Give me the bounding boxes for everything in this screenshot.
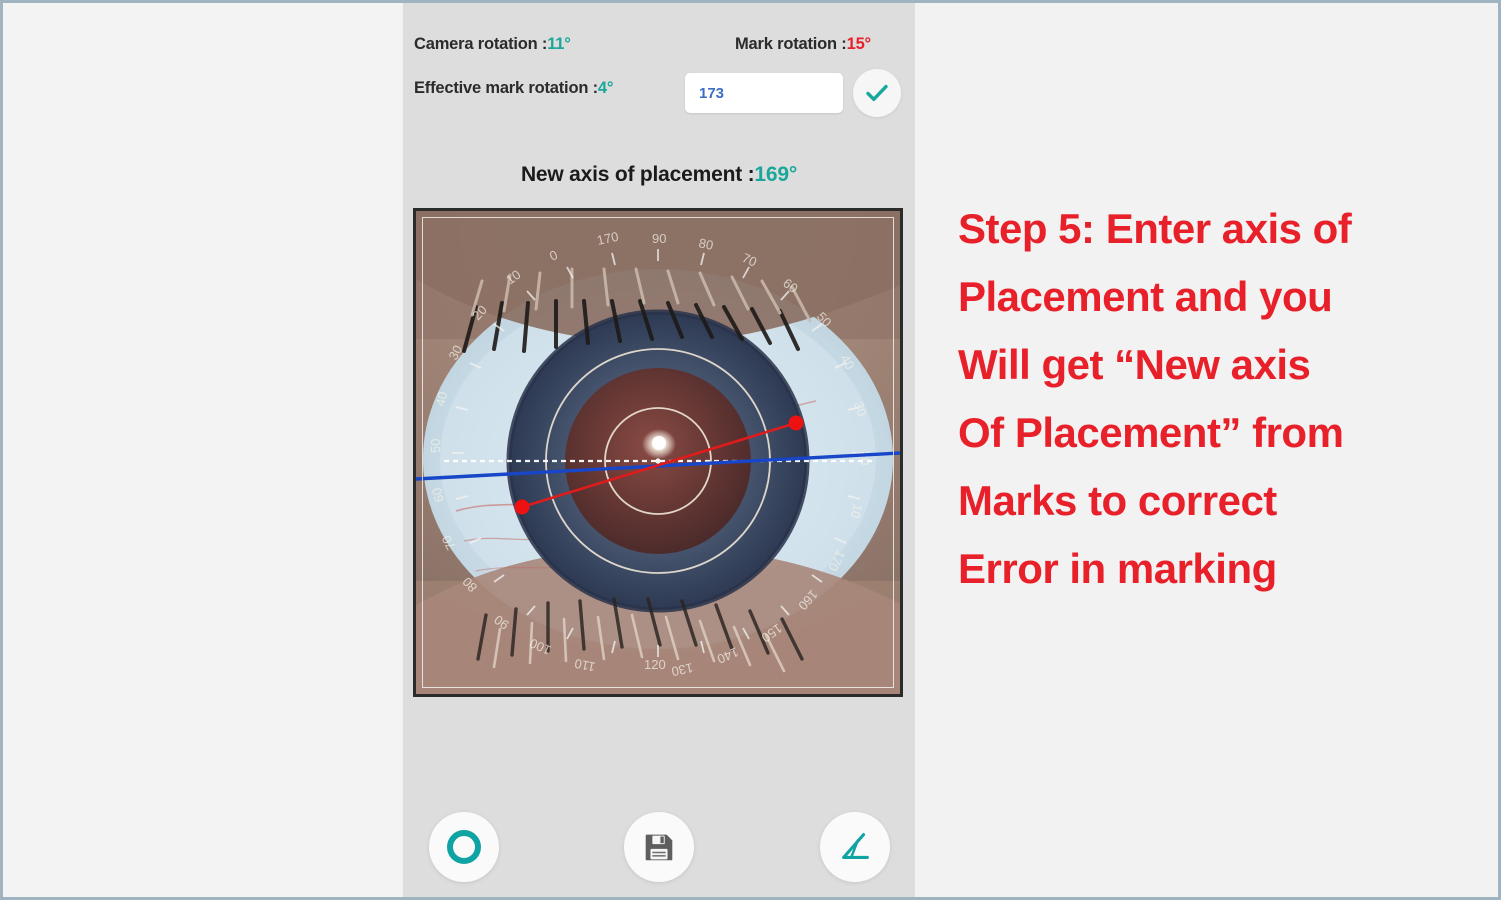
instruction-text-block: Step 5: Enter axis of Placement and you … xyxy=(958,195,1488,603)
bottom-toolbar xyxy=(403,802,915,897)
effective-mark-rotation-readout: Effective mark rotation :4° xyxy=(414,79,613,98)
instruction-line: Placement and you xyxy=(958,263,1488,331)
mark-dot-right xyxy=(789,416,804,431)
floppy-disk-icon xyxy=(640,828,678,866)
svg-text:80: 80 xyxy=(697,235,714,253)
angle-tool-button[interactable] xyxy=(820,812,890,882)
eye-image-viewport[interactable]: 90 80 70 60 50 40 30 20 10 170 160 150 xyxy=(413,208,903,697)
eye-image-with-axis-overlay[interactable]: 90 80 70 60 50 40 30 20 10 170 160 150 xyxy=(416,211,900,694)
capture-button[interactable] xyxy=(429,812,499,882)
camera-rotation-readout: Camera rotation :11° xyxy=(414,35,571,54)
axis-of-placement-input[interactable] xyxy=(685,73,843,113)
check-icon xyxy=(864,80,890,106)
svg-text:20: 20 xyxy=(857,451,872,466)
mark-rotation-value: 15° xyxy=(847,35,871,53)
mark-rotation-label: Mark rotation : xyxy=(735,35,847,53)
camera-rotation-label: Camera rotation : xyxy=(414,35,547,53)
instruction-line: Marks to correct xyxy=(958,467,1488,535)
confirm-axis-button[interactable] xyxy=(853,69,901,117)
axis-center-dot xyxy=(655,458,660,463)
instruction-line: Step 5: Enter axis of xyxy=(958,195,1488,263)
rotation-readouts: Camera rotation :11° Mark rotation :15° … xyxy=(403,3,915,153)
svg-text:50: 50 xyxy=(428,439,443,453)
new-axis-value: 169° xyxy=(754,163,797,186)
effective-mark-rotation-label: Effective mark rotation : xyxy=(414,79,598,97)
phone-app-panel: Camera rotation :11° Mark rotation :15° … xyxy=(403,3,915,897)
mark-dot-left xyxy=(515,500,530,515)
save-button[interactable] xyxy=(624,812,694,882)
new-axis-of-placement-readout: New axis of placement :169° xyxy=(403,163,915,187)
circle-ring-icon xyxy=(444,827,484,867)
left-blank-area xyxy=(3,3,403,897)
new-axis-label: New axis of placement : xyxy=(521,163,754,186)
mark-rotation-readout: Mark rotation :15° xyxy=(735,35,871,54)
instruction-line: Of Placement” from xyxy=(958,399,1488,467)
camera-rotation-value: 11° xyxy=(547,35,570,53)
svg-text:90: 90 xyxy=(652,231,666,246)
effective-mark-rotation-value: 4° xyxy=(598,79,613,97)
app-screenshot: Camera rotation :11° Mark rotation :15° … xyxy=(0,0,1501,900)
instruction-line: Will get “New axis xyxy=(958,331,1488,399)
instruction-line: Error in marking xyxy=(958,535,1488,603)
svg-text:120: 120 xyxy=(644,657,666,672)
angle-protractor-icon xyxy=(836,828,874,866)
